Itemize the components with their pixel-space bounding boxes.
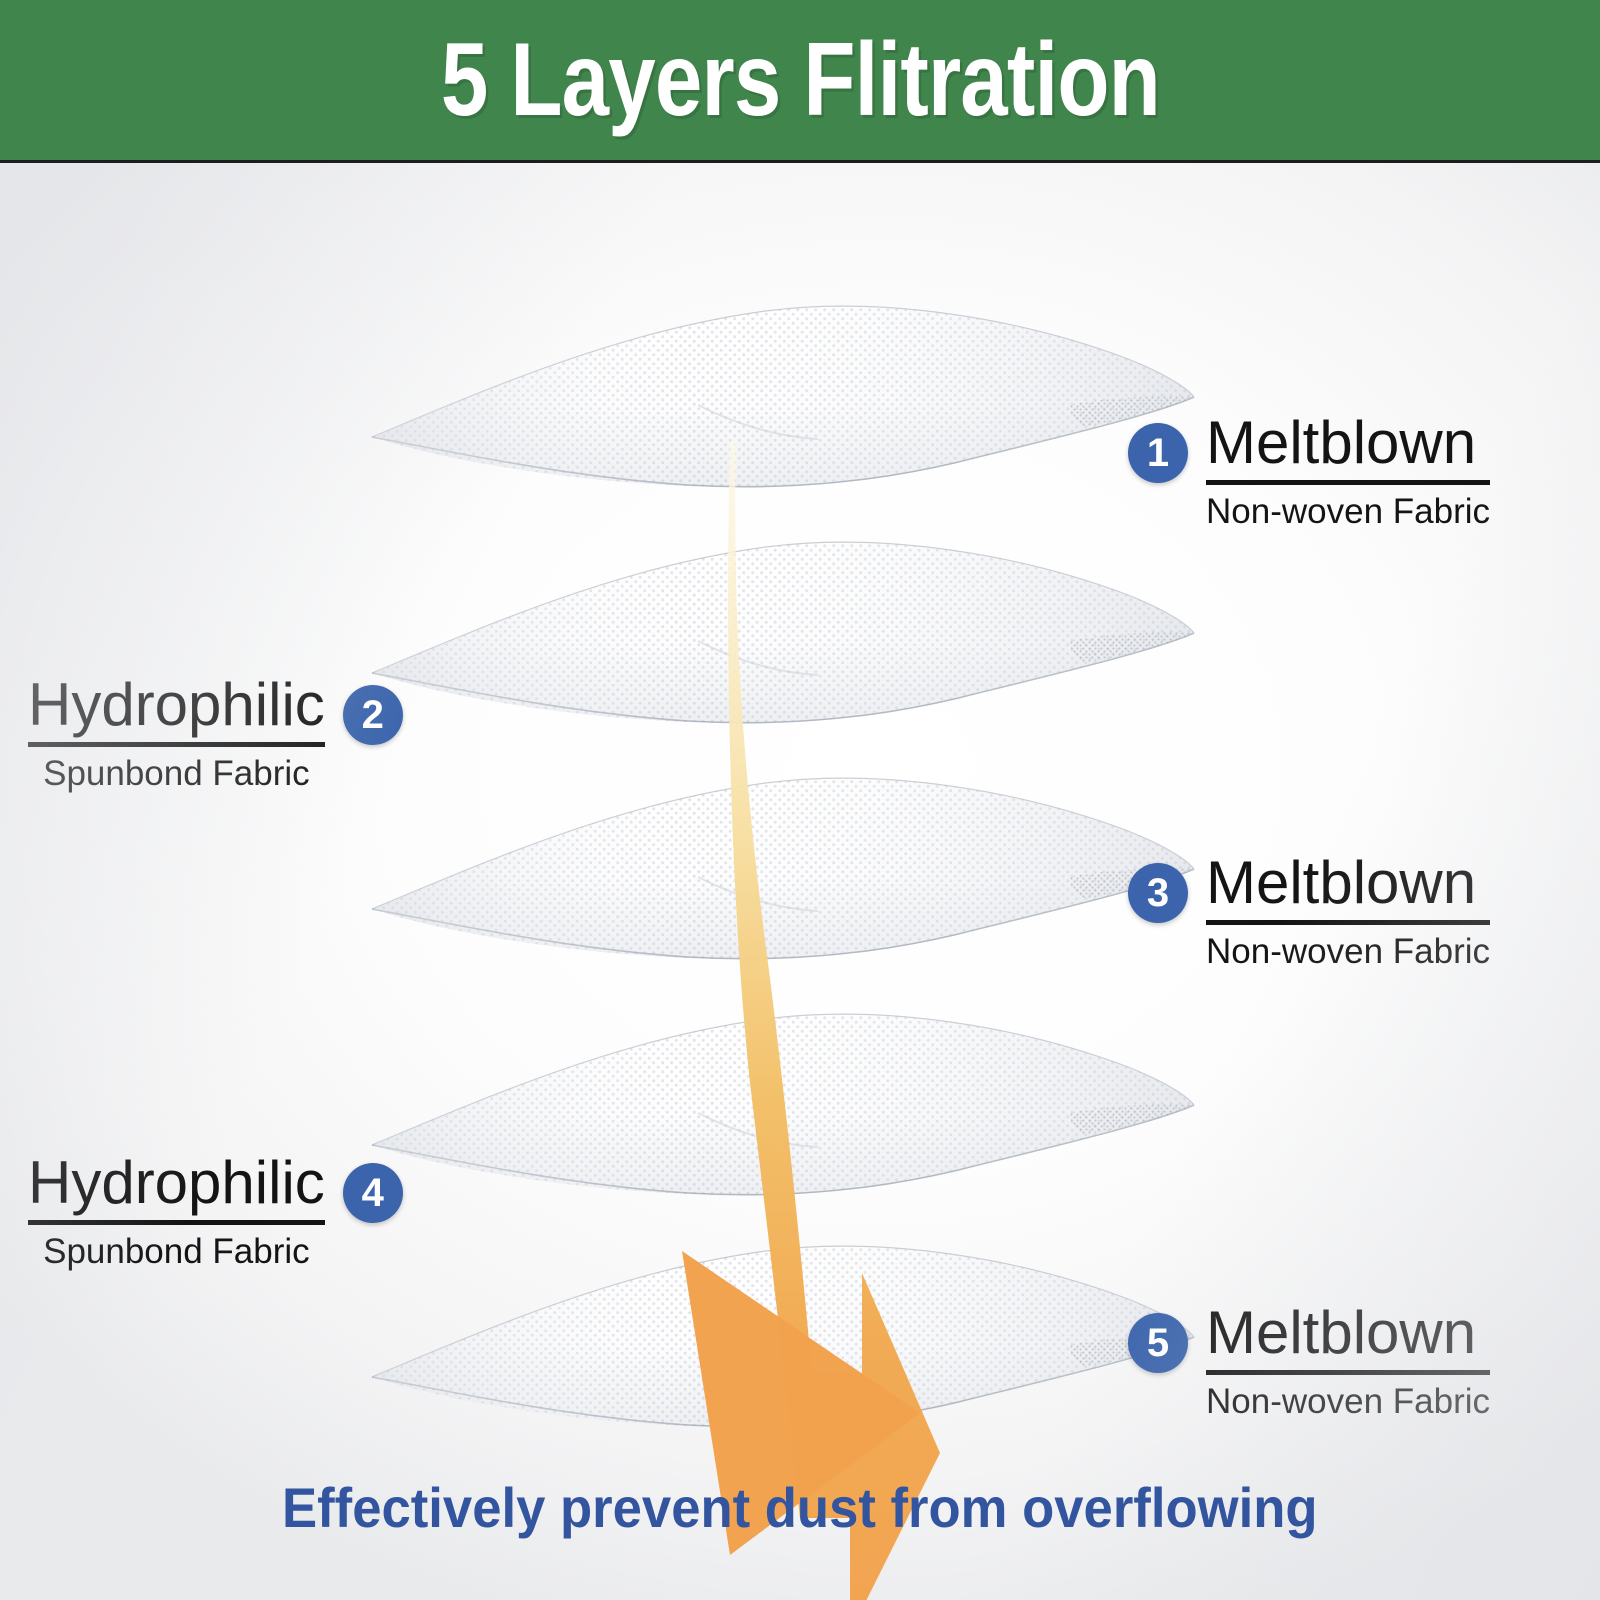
label-block-3: Meltblown Non-woven Fabric <box>1206 853 1490 969</box>
label-block-4: Hydrophilic Spunbond Fabric <box>28 1153 325 1269</box>
callout-layer-2[interactable]: Hydrophilic Spunbond Fabric 2 <box>28 675 403 791</box>
label-title-5: Meltblown <box>1206 1303 1490 1375</box>
label-block-2: Hydrophilic Spunbond Fabric <box>28 675 325 791</box>
label-title-3: Meltblown <box>1206 853 1490 925</box>
label-subtitle-1: Non-woven Fabric <box>1206 485 1490 529</box>
illustration-stage: 1 Meltblown Non-woven Fabric Hydrophilic… <box>0 163 1600 1600</box>
label-block-5: Meltblown Non-woven Fabric <box>1206 1303 1490 1419</box>
badge-number-3: 3 <box>1128 863 1188 923</box>
label-title-1: Meltblown <box>1206 413 1490 485</box>
infographic-page: 5 Layers Flitration <box>0 0 1600 1600</box>
callout-layer-4[interactable]: Hydrophilic Spunbond Fabric 4 <box>28 1153 403 1269</box>
label-subtitle-5: Non-woven Fabric <box>1206 1375 1490 1419</box>
fabric-sheet-1 <box>368 285 1198 495</box>
fabric-sheet-2 <box>368 521 1198 731</box>
fabric-sheet-5 <box>368 1225 1198 1435</box>
callout-layer-1[interactable]: 1 Meltblown Non-woven Fabric <box>1128 413 1490 529</box>
airflow-arrow-icon <box>640 443 980 1600</box>
header-banner: 5 Layers Flitration <box>0 0 1600 163</box>
bottom-caption-text: Effectively prevent dust from overflowin… <box>282 1480 1317 1536</box>
badge-number-2: 2 <box>343 685 403 745</box>
label-subtitle-3: Non-woven Fabric <box>1206 925 1490 969</box>
bottom-caption: Effectively prevent dust from overflowin… <box>0 1480 1600 1536</box>
callout-layer-3[interactable]: 3 Meltblown Non-woven Fabric <box>1128 853 1490 969</box>
fabric-sheet-4 <box>368 993 1198 1203</box>
badge-number-5: 5 <box>1128 1313 1188 1373</box>
label-subtitle-4: Spunbond Fabric <box>28 1225 325 1269</box>
callout-layer-5[interactable]: 5 Meltblown Non-woven Fabric <box>1128 1303 1490 1419</box>
label-block-1: Meltblown Non-woven Fabric <box>1206 413 1490 529</box>
badge-number-1: 1 <box>1128 423 1188 483</box>
label-subtitle-2: Spunbond Fabric <box>28 747 325 791</box>
fabric-sheet-3 <box>368 757 1198 967</box>
label-title-2: Hydrophilic <box>28 675 325 747</box>
page-title: 5 Layers Flitration <box>440 28 1159 132</box>
label-title-4: Hydrophilic <box>28 1153 325 1225</box>
badge-number-4: 4 <box>343 1163 403 1223</box>
